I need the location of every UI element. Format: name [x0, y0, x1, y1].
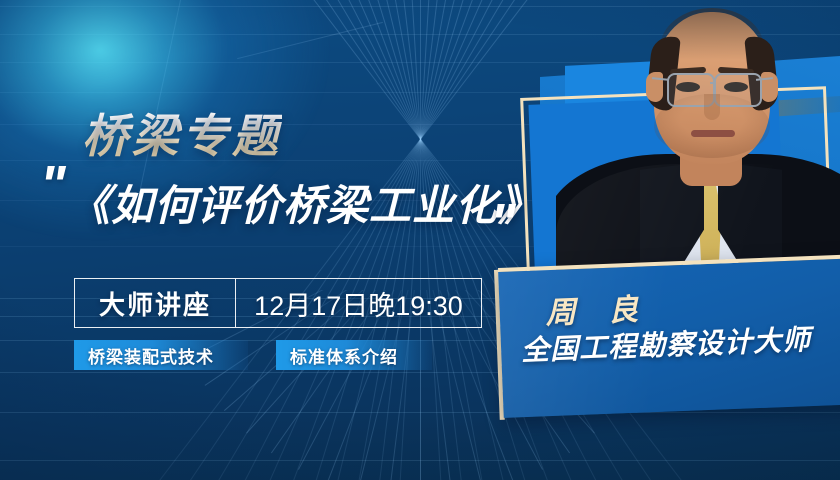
glasses-bridge — [710, 82, 716, 84]
topic-tag-2: 标准体系介绍 — [276, 340, 432, 370]
speaker-portrait — [556, 0, 840, 294]
lecture-datetime-cell: 12月17日晚19:30 — [236, 279, 481, 327]
quote-close-icon: " — [490, 196, 516, 250]
lecture-type-label: 大师讲座 — [99, 285, 211, 322]
lecture-type-cell: 大师讲座 — [75, 279, 236, 327]
lecture-datetime-label: 12月17日晚19:30 — [254, 284, 463, 323]
mouth-shape — [691, 130, 735, 137]
speaker-promo-poster: 周 良 全国工程勘察设计大师 桥梁专题 " 《如何评价桥梁工业化》 " 大师讲座… — [0, 0, 840, 480]
topic-tag-1: 桥梁装配式技术 — [74, 340, 248, 370]
speaker-name-panel: 周 良 全国工程勘察设计大师 — [498, 254, 840, 418]
page-title: 桥梁专题 — [82, 100, 282, 166]
lecture-info-box: 大师讲座 12月17日晚19:30 — [74, 278, 482, 328]
page-subtitle: 《如何评价桥梁工业化》 — [68, 172, 541, 233]
quote-open-icon: " — [40, 158, 66, 212]
glasses-lens-right — [714, 73, 762, 107]
nose-shape — [704, 94, 720, 120]
